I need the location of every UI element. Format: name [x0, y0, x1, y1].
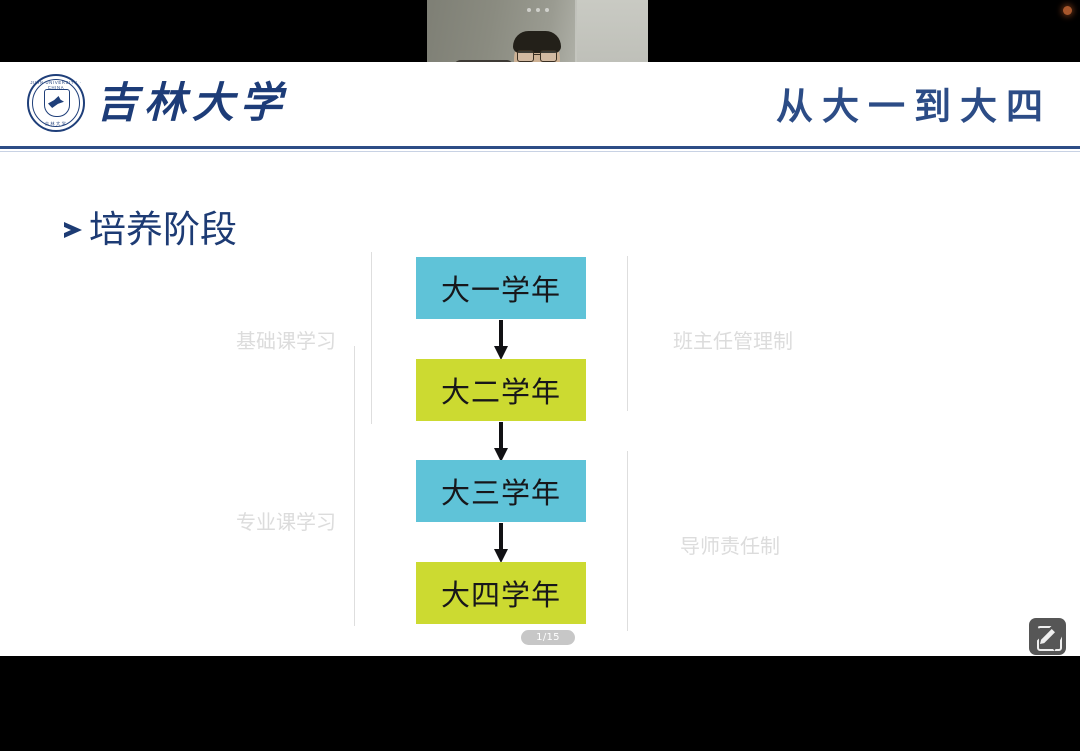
down-arrow-icon [494, 523, 508, 563]
flow-box-year-3: 大三学年 [416, 460, 586, 522]
annotate-button[interactable] [1029, 618, 1066, 655]
flow-box-year-4: 大四学年 [416, 562, 586, 624]
video-tile-drag-handle[interactable] [527, 8, 549, 12]
flow-divider-left-upper [371, 252, 372, 424]
presentation-slide[interactable]: JILIN UNIVERSITY · CHINA 吉林大学 吉林大学 从大一到大… [0, 62, 1080, 656]
down-arrow-icon [494, 422, 508, 462]
flow-box-year-1: 大一学年 [416, 257, 586, 319]
down-arrow-icon [494, 320, 508, 360]
video-person-glasses [517, 50, 557, 60]
device-screen: 李文博 JILIN UNIVERSITY · CHINA 吉林大学 吉林大学 从… [0, 0, 1080, 751]
flow-caption-basic-courses: 基础课学习 [236, 325, 336, 354]
flow-box-year-2: 大二学年 [416, 359, 586, 421]
page-indicator: 1/15 [521, 630, 575, 645]
flow-caption-major-courses: 专业课学习 [236, 506, 336, 535]
flow-divider-right-upper [627, 256, 628, 411]
annotate-pen-icon [1037, 626, 1058, 647]
bottom-bar [0, 656, 1080, 751]
flow-diagram: 大一学年 大二学年 大三学年 大四学年 基础课学习 专业课学习 班主任管理制 导… [0, 62, 1080, 656]
flow-divider-right-lower [627, 451, 628, 631]
flow-caption-mentor-system: 导师责任制 [680, 530, 780, 559]
flow-divider-left-lower [354, 346, 355, 626]
flow-caption-class-advisor-system: 班主任管理制 [673, 325, 793, 354]
recording-indicator-icon [1063, 6, 1072, 15]
